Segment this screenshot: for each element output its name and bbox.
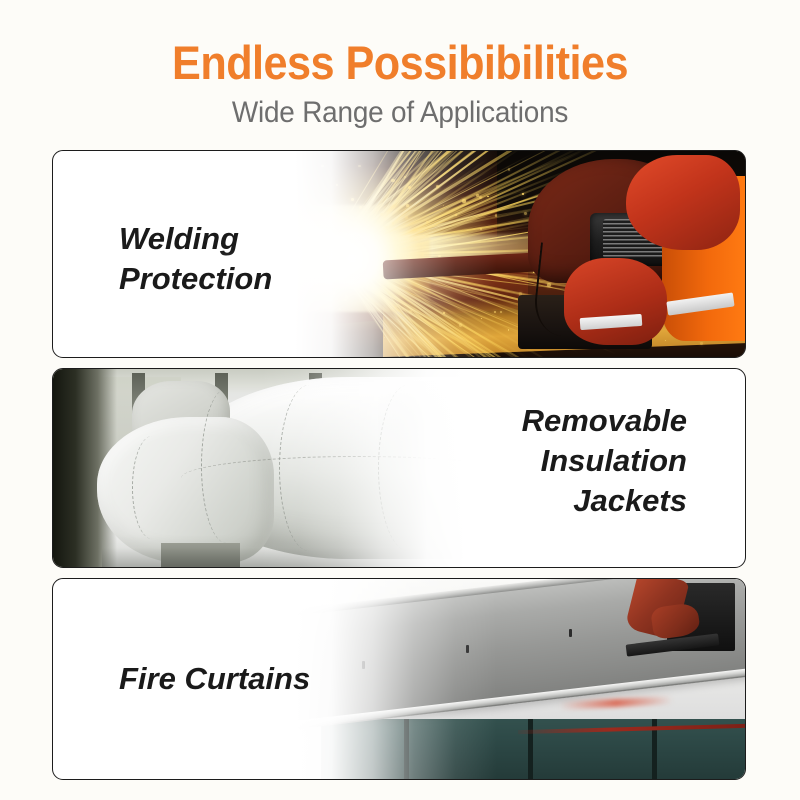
jacket-seam-4 [132, 436, 172, 539]
application-card-removable-insulation-jackets[interactable]: Removable Insulation Jackets [52, 368, 746, 568]
application-card-fire-curtains[interactable]: Fire Curtains [52, 578, 746, 780]
page-subtitle: Wide Range of Applications [28, 96, 772, 130]
jacket-seam-horizontal [181, 456, 535, 501]
application-card-welding-protection[interactable]: Welding Protection [52, 150, 746, 358]
welding-photo [228, 151, 745, 357]
insulation-photo [53, 369, 545, 567]
poster-canvas: Endless Possibibilities Wide Range of Ap… [0, 0, 800, 800]
card-label-removable-insulation-jackets: Removable Insulation Jackets [522, 401, 687, 521]
card-label-fire-curtains: Fire Curtains [119, 659, 310, 699]
poster-header: Endless Possibibilities Wide Range of Ap… [0, 0, 800, 140]
insulation-shadow [102, 535, 545, 567]
worker-glove-lower [564, 258, 667, 345]
spark-core [275, 205, 430, 312]
curtain-bolt-3 [569, 629, 572, 637]
glass-mullion-1 [404, 719, 409, 779]
worker-glove-upper [626, 155, 740, 250]
glass-mullion-2 [528, 719, 533, 779]
card-label-welding-protection: Welding Protection [119, 219, 272, 299]
curtain-bolt-2 [466, 645, 469, 653]
curtain-bolt-1 [362, 661, 365, 669]
page-title: Endless Possibibilities [32, 38, 768, 88]
